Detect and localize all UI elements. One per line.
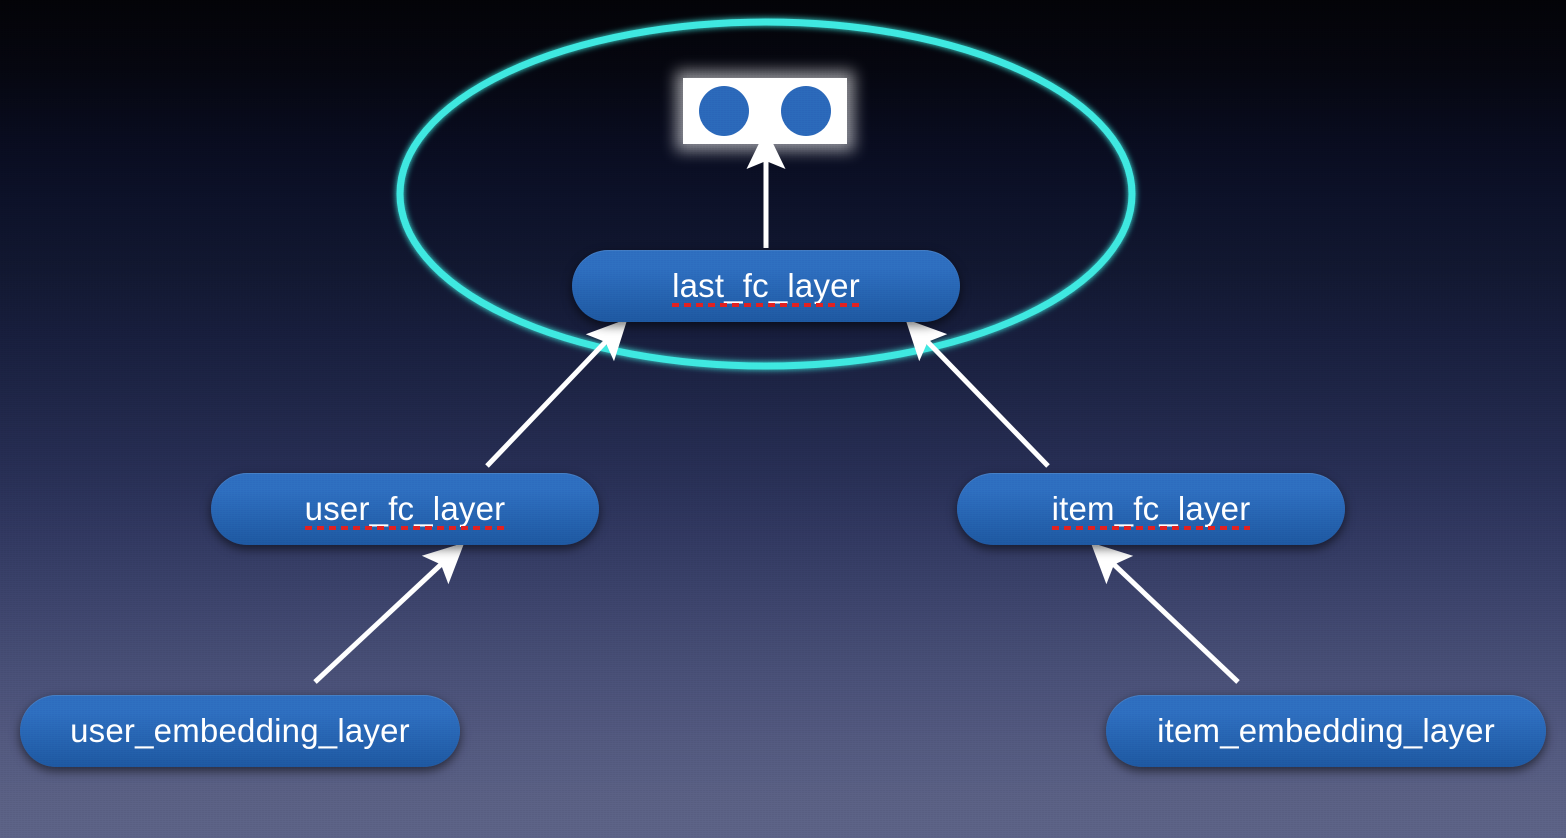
- node-item-fc-layer[interactable]: item_fc_layer: [957, 473, 1345, 545]
- node-label: user_embedding_layer: [70, 714, 410, 749]
- output-vector-panel: [683, 78, 847, 144]
- edge-user-embedding-to-user-fc: [315, 557, 449, 682]
- node-label: item_fc_layer: [1052, 492, 1251, 527]
- edge-user-fc-to-last-fc: [487, 334, 613, 466]
- node-label: item_embedding_layer: [1157, 714, 1495, 749]
- node-user-fc-layer[interactable]: user_fc_layer: [211, 473, 599, 545]
- output-vector-dot: [781, 86, 831, 136]
- output-vector-dot: [699, 86, 749, 136]
- node-item-embedding-layer[interactable]: item_embedding_layer: [1106, 695, 1546, 767]
- edge-group: [315, 150, 1238, 682]
- edge-item-embedding-to-item-fc: [1106, 557, 1238, 682]
- node-user-embedding-layer[interactable]: user_embedding_layer: [20, 695, 460, 767]
- edge-item-fc-to-last-fc: [920, 334, 1048, 466]
- node-label: user_fc_layer: [305, 492, 506, 527]
- node-label: last_fc_layer: [672, 269, 860, 304]
- diagram-canvas: last_fc_layer user_fc_layer item_fc_laye…: [0, 0, 1566, 838]
- node-last-fc-layer[interactable]: last_fc_layer: [572, 250, 960, 322]
